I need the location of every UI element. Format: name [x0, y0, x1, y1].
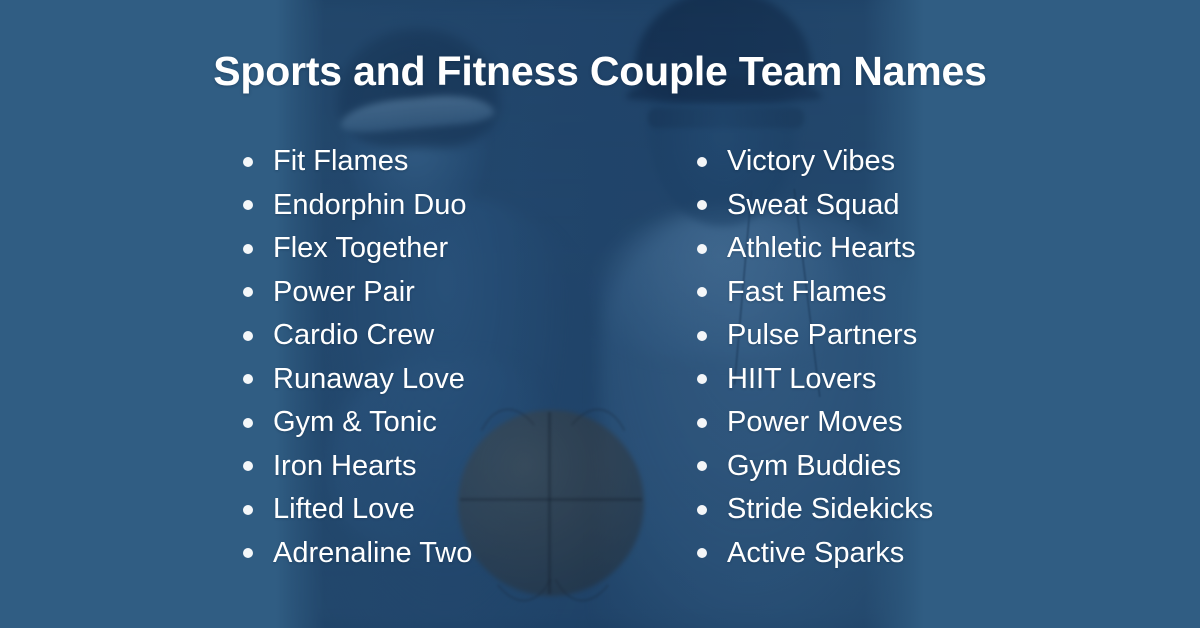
- bullet-icon: [243, 461, 253, 471]
- list-item: Cardio Crew: [237, 314, 455, 358]
- bullet-icon: [697, 157, 707, 167]
- bullet-icon: [697, 287, 707, 297]
- list-item: Active Sparks: [691, 532, 1200, 576]
- list-item-label: Stride Sidekicks: [727, 493, 933, 525]
- bullet-icon: [243, 374, 253, 384]
- bullet-icon: [697, 200, 707, 210]
- list-item: Endorphin Duo: [237, 184, 455, 228]
- list-item: Power Moves: [691, 401, 1200, 445]
- right-name-list: Victory Vibes Sweat Squad Athletic Heart…: [691, 140, 1200, 575]
- list-item-label: Active Sparks: [727, 537, 904, 569]
- list-item-label: Cardio Crew: [273, 319, 434, 351]
- list-item-label: Athletic Hearts: [727, 232, 916, 264]
- bullet-icon: [243, 505, 253, 515]
- bullet-icon: [243, 548, 253, 558]
- bullet-icon: [697, 505, 707, 515]
- bullet-icon: [697, 244, 707, 254]
- list-item: Sweat Squad: [691, 184, 1200, 228]
- list-item: Stride Sidekicks: [691, 488, 1200, 532]
- list-item: Lifted Love: [237, 488, 455, 532]
- list-item: Fast Flames: [691, 271, 1200, 315]
- bullet-icon: [243, 331, 253, 341]
- list-item: Gym Buddies: [691, 445, 1200, 489]
- list-item: Fit Flames: [237, 140, 455, 184]
- list-item-label: Gym Buddies: [727, 450, 901, 482]
- bullet-icon: [243, 244, 253, 254]
- name-columns: Fit Flames Endorphin Duo Flex Together P…: [0, 140, 1200, 575]
- list-item: Flex Together: [237, 227, 455, 271]
- page-title: Sports and Fitness Couple Team Names: [0, 48, 1200, 95]
- list-item-label: Iron Hearts: [273, 450, 416, 482]
- list-item-label: Power Pair: [273, 276, 415, 308]
- bullet-icon: [697, 548, 707, 558]
- list-item: Athletic Hearts: [691, 227, 1200, 271]
- list-item-label: Lifted Love: [273, 493, 415, 525]
- list-item-label: Adrenaline Two: [273, 537, 472, 569]
- list-item: Adrenaline Two: [237, 532, 455, 576]
- bullet-icon: [243, 200, 253, 210]
- bullet-icon: [697, 374, 707, 384]
- list-item-label: Fast Flames: [727, 276, 887, 308]
- bullet-icon: [243, 157, 253, 167]
- list-item-label: Flex Together: [273, 232, 448, 264]
- list-item-label: Sweat Squad: [727, 189, 900, 221]
- poster-content: Sports and Fitness Couple Team Names Fit…: [0, 0, 1200, 628]
- bullet-icon: [697, 461, 707, 471]
- list-item: Power Pair: [237, 271, 455, 315]
- list-item: Pulse Partners: [691, 314, 1200, 358]
- list-item-label: Runaway Love: [273, 363, 465, 395]
- list-item-label: Pulse Partners: [727, 319, 917, 351]
- bullet-icon: [243, 287, 253, 297]
- list-item: Gym & Tonic: [237, 401, 455, 445]
- list-item-label: Victory Vibes: [727, 145, 895, 177]
- list-item-label: Endorphin Duo: [273, 189, 466, 221]
- list-item: Victory Vibes: [691, 140, 1200, 184]
- right-column: Victory Vibes Sweat Squad Athletic Heart…: [455, 140, 1200, 575]
- list-item: Iron Hearts: [237, 445, 455, 489]
- bullet-icon: [697, 331, 707, 341]
- left-column: Fit Flames Endorphin Duo Flex Together P…: [0, 140, 455, 575]
- bullet-icon: [243, 418, 253, 428]
- list-item-label: Power Moves: [727, 406, 903, 438]
- list-item-label: HIIT Lovers: [727, 363, 876, 395]
- list-item-label: Gym & Tonic: [273, 406, 437, 438]
- bullet-icon: [697, 418, 707, 428]
- list-item: HIIT Lovers: [691, 358, 1200, 402]
- left-name-list: Fit Flames Endorphin Duo Flex Together P…: [237, 140, 455, 575]
- poster: Sports and Fitness Couple Team Names Fit…: [0, 0, 1200, 628]
- list-item-label: Fit Flames: [273, 145, 408, 177]
- list-item: Runaway Love: [237, 358, 455, 402]
